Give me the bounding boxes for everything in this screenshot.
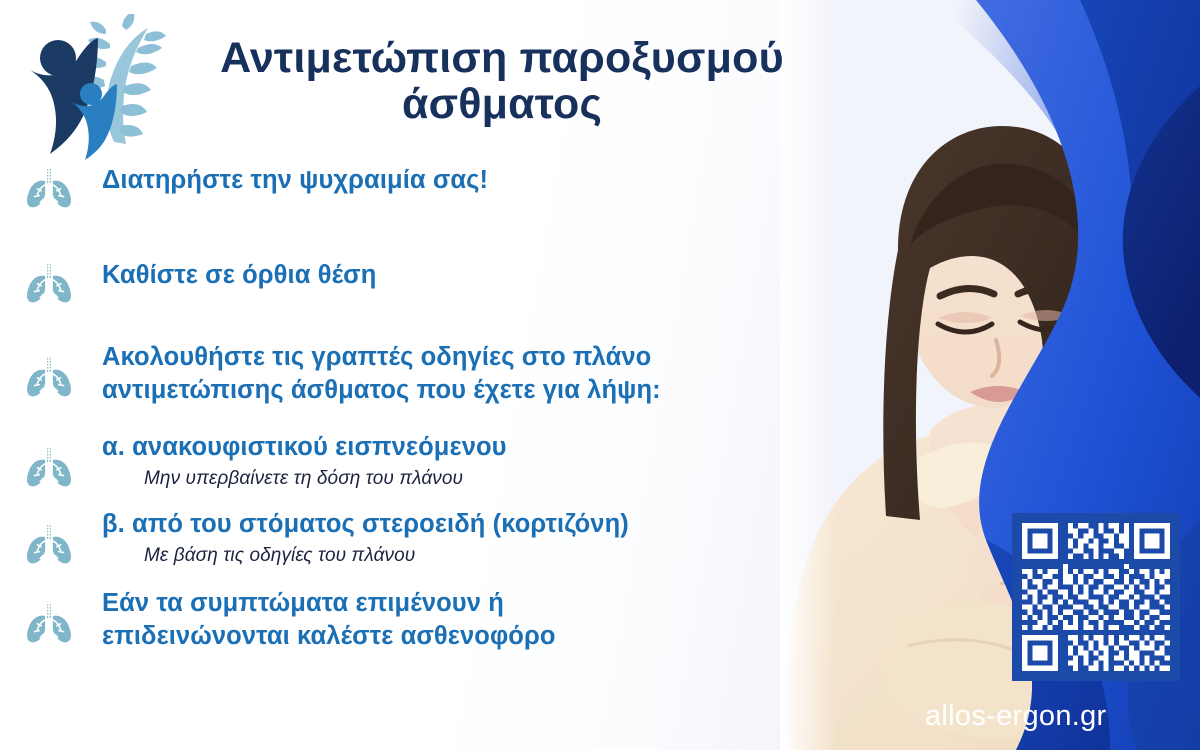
step-line: α. ανακουφιστικού εισπνεόμενου xyxy=(102,431,848,464)
title-line-2: άσθματος xyxy=(172,82,832,128)
list-item-text: Καθίστε σε όρθια θέση xyxy=(80,247,848,292)
lungs-icon xyxy=(18,152,80,214)
poster: Αντιμετώπιση παροξυσμού άσθματος xyxy=(0,0,1200,750)
list-item: Διατηρήστε την ψυχραιμία σας! xyxy=(18,152,848,214)
page-title: Αντιμετώπιση παροξυσμού άσθματος xyxy=(172,36,832,127)
step-line: Διατηρήστε την ψυχραιμία σας! xyxy=(102,164,848,197)
list-item: Ακολουθήστε τις γραπτές οδηγίες στο πλάν… xyxy=(18,341,848,407)
list-item: Καθίστε σε όρθια θέση xyxy=(18,247,848,309)
qr-code-icon xyxy=(1012,513,1180,681)
website-url[interactable]: allos-ergon.gr xyxy=(925,700,1107,733)
title-line-1: Αντιμετώπιση παροξυσμού xyxy=(220,34,784,82)
list-item: α. ανακουφιστικού εισπνεόμενου Μην υπερβ… xyxy=(18,431,848,493)
logo[interactable] xyxy=(18,14,170,162)
list-item: β. από του στόματος στεροειδή (κορτιζόνη… xyxy=(18,508,848,570)
qr-code[interactable] xyxy=(1012,513,1180,681)
list-item-text: β. από του στόματος στεροειδή (κορτιζόνη… xyxy=(80,508,848,569)
lungs-icon xyxy=(18,508,80,570)
step-line: Ακολουθήστε τις γραπτές οδηγίες στο πλάν… xyxy=(102,341,848,374)
lungs-icon xyxy=(18,341,80,403)
step-line: β. από του στόματος στεροειδή (κορτιζόνη… xyxy=(102,508,848,541)
step-line: επιδεινώνονται καλέστε ασθενοφόρο xyxy=(102,620,848,653)
list-item-text: Ακολουθήστε τις γραπτές οδηγίες στο πλάν… xyxy=(80,341,848,407)
lungs-icon xyxy=(18,247,80,309)
two-figures-leaf-logo-icon xyxy=(18,14,170,162)
step-line: Καθίστε σε όρθια θέση xyxy=(102,259,848,292)
lungs-icon xyxy=(18,587,80,649)
lungs-icon xyxy=(18,431,80,493)
step-line: Εάν τα συμπτώματα επιμένουν ή xyxy=(102,587,848,620)
list-item-text: α. ανακουφιστικού εισπνεόμενου Μην υπερβ… xyxy=(80,431,848,492)
step-note: Μην υπερβαίνετε τη δόση του πλάνου xyxy=(102,466,848,492)
step-note: Με βάση τις οδηγίες του πλάνου xyxy=(102,543,848,569)
list-item-text: Διατηρήστε την ψυχραιμία σας! xyxy=(80,152,848,197)
step-line: αντιμετώπισης άσθματος που έχετε για λήψ… xyxy=(102,374,848,407)
steps-list: Διατηρήστε την ψυχραιμία σας! xyxy=(18,148,848,654)
list-item: Εάν τα συμπτώματα επιμένουν ή επιδεινώνο… xyxy=(18,587,848,653)
list-item-text: Εάν τα συμπτώματα επιμένουν ή επιδεινώνο… xyxy=(80,587,848,653)
